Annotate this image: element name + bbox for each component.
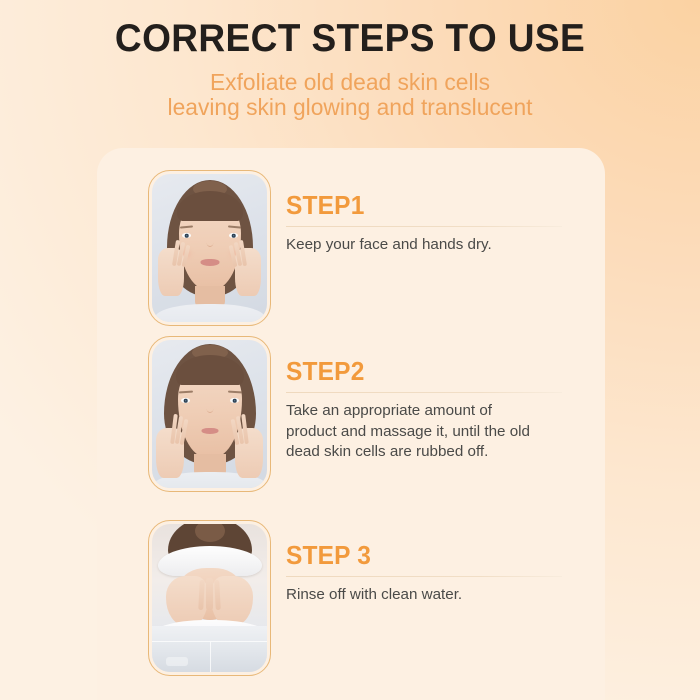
subtitle-line-2: leaving skin glowing and translucent <box>11 95 690 120</box>
step-2-text: STEP2 Take an appropriate amount of prod… <box>286 336 605 463</box>
step-1-text: STEP1 Keep your face and hands dry. <box>286 170 605 256</box>
step-3-title: STEP 3 <box>286 542 592 571</box>
step-3-thumbnail <box>148 520 271 676</box>
step-2-title: STEP2 <box>286 358 592 387</box>
step-3-text: STEP 3 Rinse off with clean water. <box>286 520 605 606</box>
step-3-divider <box>286 576 562 577</box>
step-2-photo <box>152 340 267 488</box>
subtitle: Exfoliate old dead skin cells leaving sk… <box>11 70 690 120</box>
step-3-photo <box>152 524 267 672</box>
step-3-description: Rinse off with clean water. <box>286 585 531 606</box>
step-1-divider <box>286 226 562 227</box>
step-2-divider <box>286 392 562 393</box>
step-2-thumbnail <box>148 336 271 492</box>
step-row: STEP 3 Rinse off with clean water. <box>97 520 605 676</box>
page-title: CORRECT STEPS TO USE <box>18 17 683 61</box>
step-1-photo <box>152 174 267 322</box>
step-1-description: Keep your face and hands dry. <box>286 235 536 256</box>
steps-card: STEP1 Keep your face and hands dry. <box>97 148 605 700</box>
subtitle-line-1: Exfoliate old dead skin cells <box>11 70 690 95</box>
step-row: STEP2 Take an appropriate amount of prod… <box>97 336 605 492</box>
step-2-description: Take an appropriate amount of product an… <box>286 401 536 463</box>
step-1-title: STEP1 <box>286 192 592 221</box>
step-row: STEP1 Keep your face and hands dry. <box>97 170 605 326</box>
header: CORRECT STEPS TO USE Exfoliate old dead … <box>0 0 700 120</box>
step-1-thumbnail <box>148 170 271 326</box>
